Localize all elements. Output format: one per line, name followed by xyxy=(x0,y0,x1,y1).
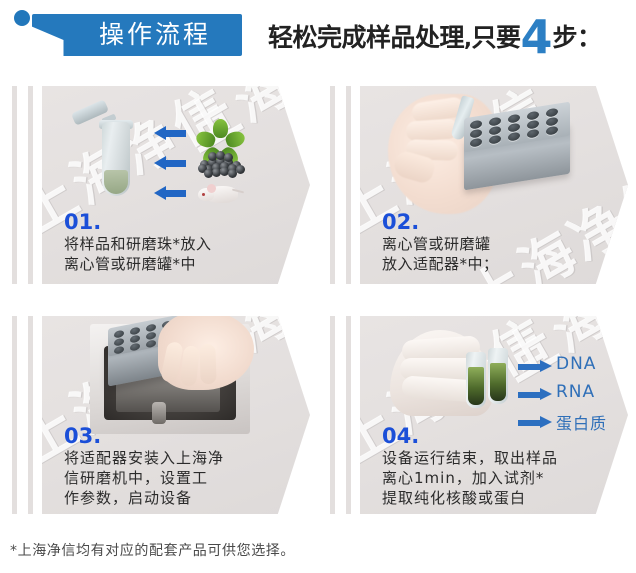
accent-bar-outer xyxy=(330,316,335,514)
arrow-right-icon xyxy=(518,388,552,401)
mouse-icon xyxy=(198,180,242,204)
step-panel-4[interactable]: 上海净信 上海净信 DNA RNA 蛋白质 xyxy=(360,316,628,514)
accent-bar-inner xyxy=(346,86,351,284)
step-panel-1[interactable]: 上海净信 上海净信 xyxy=(42,86,310,284)
centrifuge-tube-icon xyxy=(94,108,138,200)
step-cell-1: 上海净信 上海净信 xyxy=(0,74,318,296)
accent-bar-inner xyxy=(28,86,33,284)
step-4-caption: 04. 设备运行结束，取出样品 离心1min，加入试剂* 提取纯化核酸或蛋白 xyxy=(382,425,622,508)
tube-liquid xyxy=(104,170,128,194)
steps-grid: 上海净信 上海净信 xyxy=(0,74,636,526)
step-cell-3: 上海净信 上海净信 03. 将适配器安装入上海净 信研磨机中，设置工 作参数，启… xyxy=(0,304,318,526)
step-cell-2: 上海净信 上海净信 02. 离心管或研磨罐 放入适配器*中； xyxy=(318,74,636,296)
accent-bar-outer xyxy=(12,86,17,284)
step-description: 设备运行结束，取出样品 离心1min，加入试剂* 提取纯化核酸或蛋白 xyxy=(382,448,622,508)
arrow-left-icon xyxy=(154,156,186,170)
leaf-icon xyxy=(200,114,238,148)
step-number: 03. xyxy=(64,425,304,448)
footnote-text: *上海净信均有对应的配套产品可供您选择。 xyxy=(10,540,295,560)
sample-tube-icon xyxy=(488,348,508,404)
step-number: 01. xyxy=(64,211,304,234)
accent-bar-inner xyxy=(346,316,351,514)
banner-dot-decoration xyxy=(14,10,30,26)
header: 操作流程 轻松完成样品处理,只要4步： xyxy=(0,0,636,70)
grinding-beads-icon xyxy=(198,148,242,174)
step-number: 04. xyxy=(382,425,622,448)
step-1-caption: 01. 将样品和研磨珠*放入 离心管或研磨罐*中 xyxy=(64,211,304,274)
step-panel-2[interactable]: 上海净信 上海净信 02. 离心管或研磨罐 放入适配器*中； xyxy=(360,86,628,284)
headline-comma: , xyxy=(464,27,471,51)
accent-bar-outer xyxy=(330,86,335,284)
headline-mid: 只要 xyxy=(472,23,521,52)
headline-step-count: 4 xyxy=(521,10,553,64)
step-3-caption: 03. 将适配器安装入上海净 信研磨机中，设置工 作参数，启动设备 xyxy=(64,425,304,508)
accent-bar-outer xyxy=(12,316,17,514)
step-cell-4: 上海净信 上海净信 DNA RNA 蛋白质 xyxy=(318,304,636,526)
step-description: 将适配器安装入上海净 信研磨机中，设置工 作参数，启动设备 xyxy=(64,448,304,508)
headline: 轻松完成样品处理,只要4步： xyxy=(268,17,602,57)
arrow-right-icon xyxy=(518,360,552,373)
step-panel-3[interactable]: 上海净信 上海净信 03. 将适配器安装入上海净 信研磨机中，设置工 作参数，启… xyxy=(42,316,310,514)
headline-suffix: 步： xyxy=(553,23,602,52)
output-label-dna: DNA xyxy=(556,354,596,374)
accent-bar-inner xyxy=(28,316,33,514)
step-description: 离心管或研磨罐 放入适配器*中； xyxy=(382,234,622,274)
output-label-rna: RNA xyxy=(556,382,595,402)
step-2-caption: 02. 离心管或研磨罐 放入适配器*中； xyxy=(382,211,622,274)
step-description: 将样品和研磨珠*放入 离心管或研磨罐*中 xyxy=(64,234,304,274)
step-number: 02. xyxy=(382,211,622,234)
banner-title: 操作流程 xyxy=(68,18,242,52)
sample-tube-icon xyxy=(466,352,486,408)
arrow-left-icon xyxy=(154,186,186,200)
headline-prefix: 轻松完成样品处理 xyxy=(268,23,464,52)
arrow-left-icon xyxy=(154,126,186,140)
